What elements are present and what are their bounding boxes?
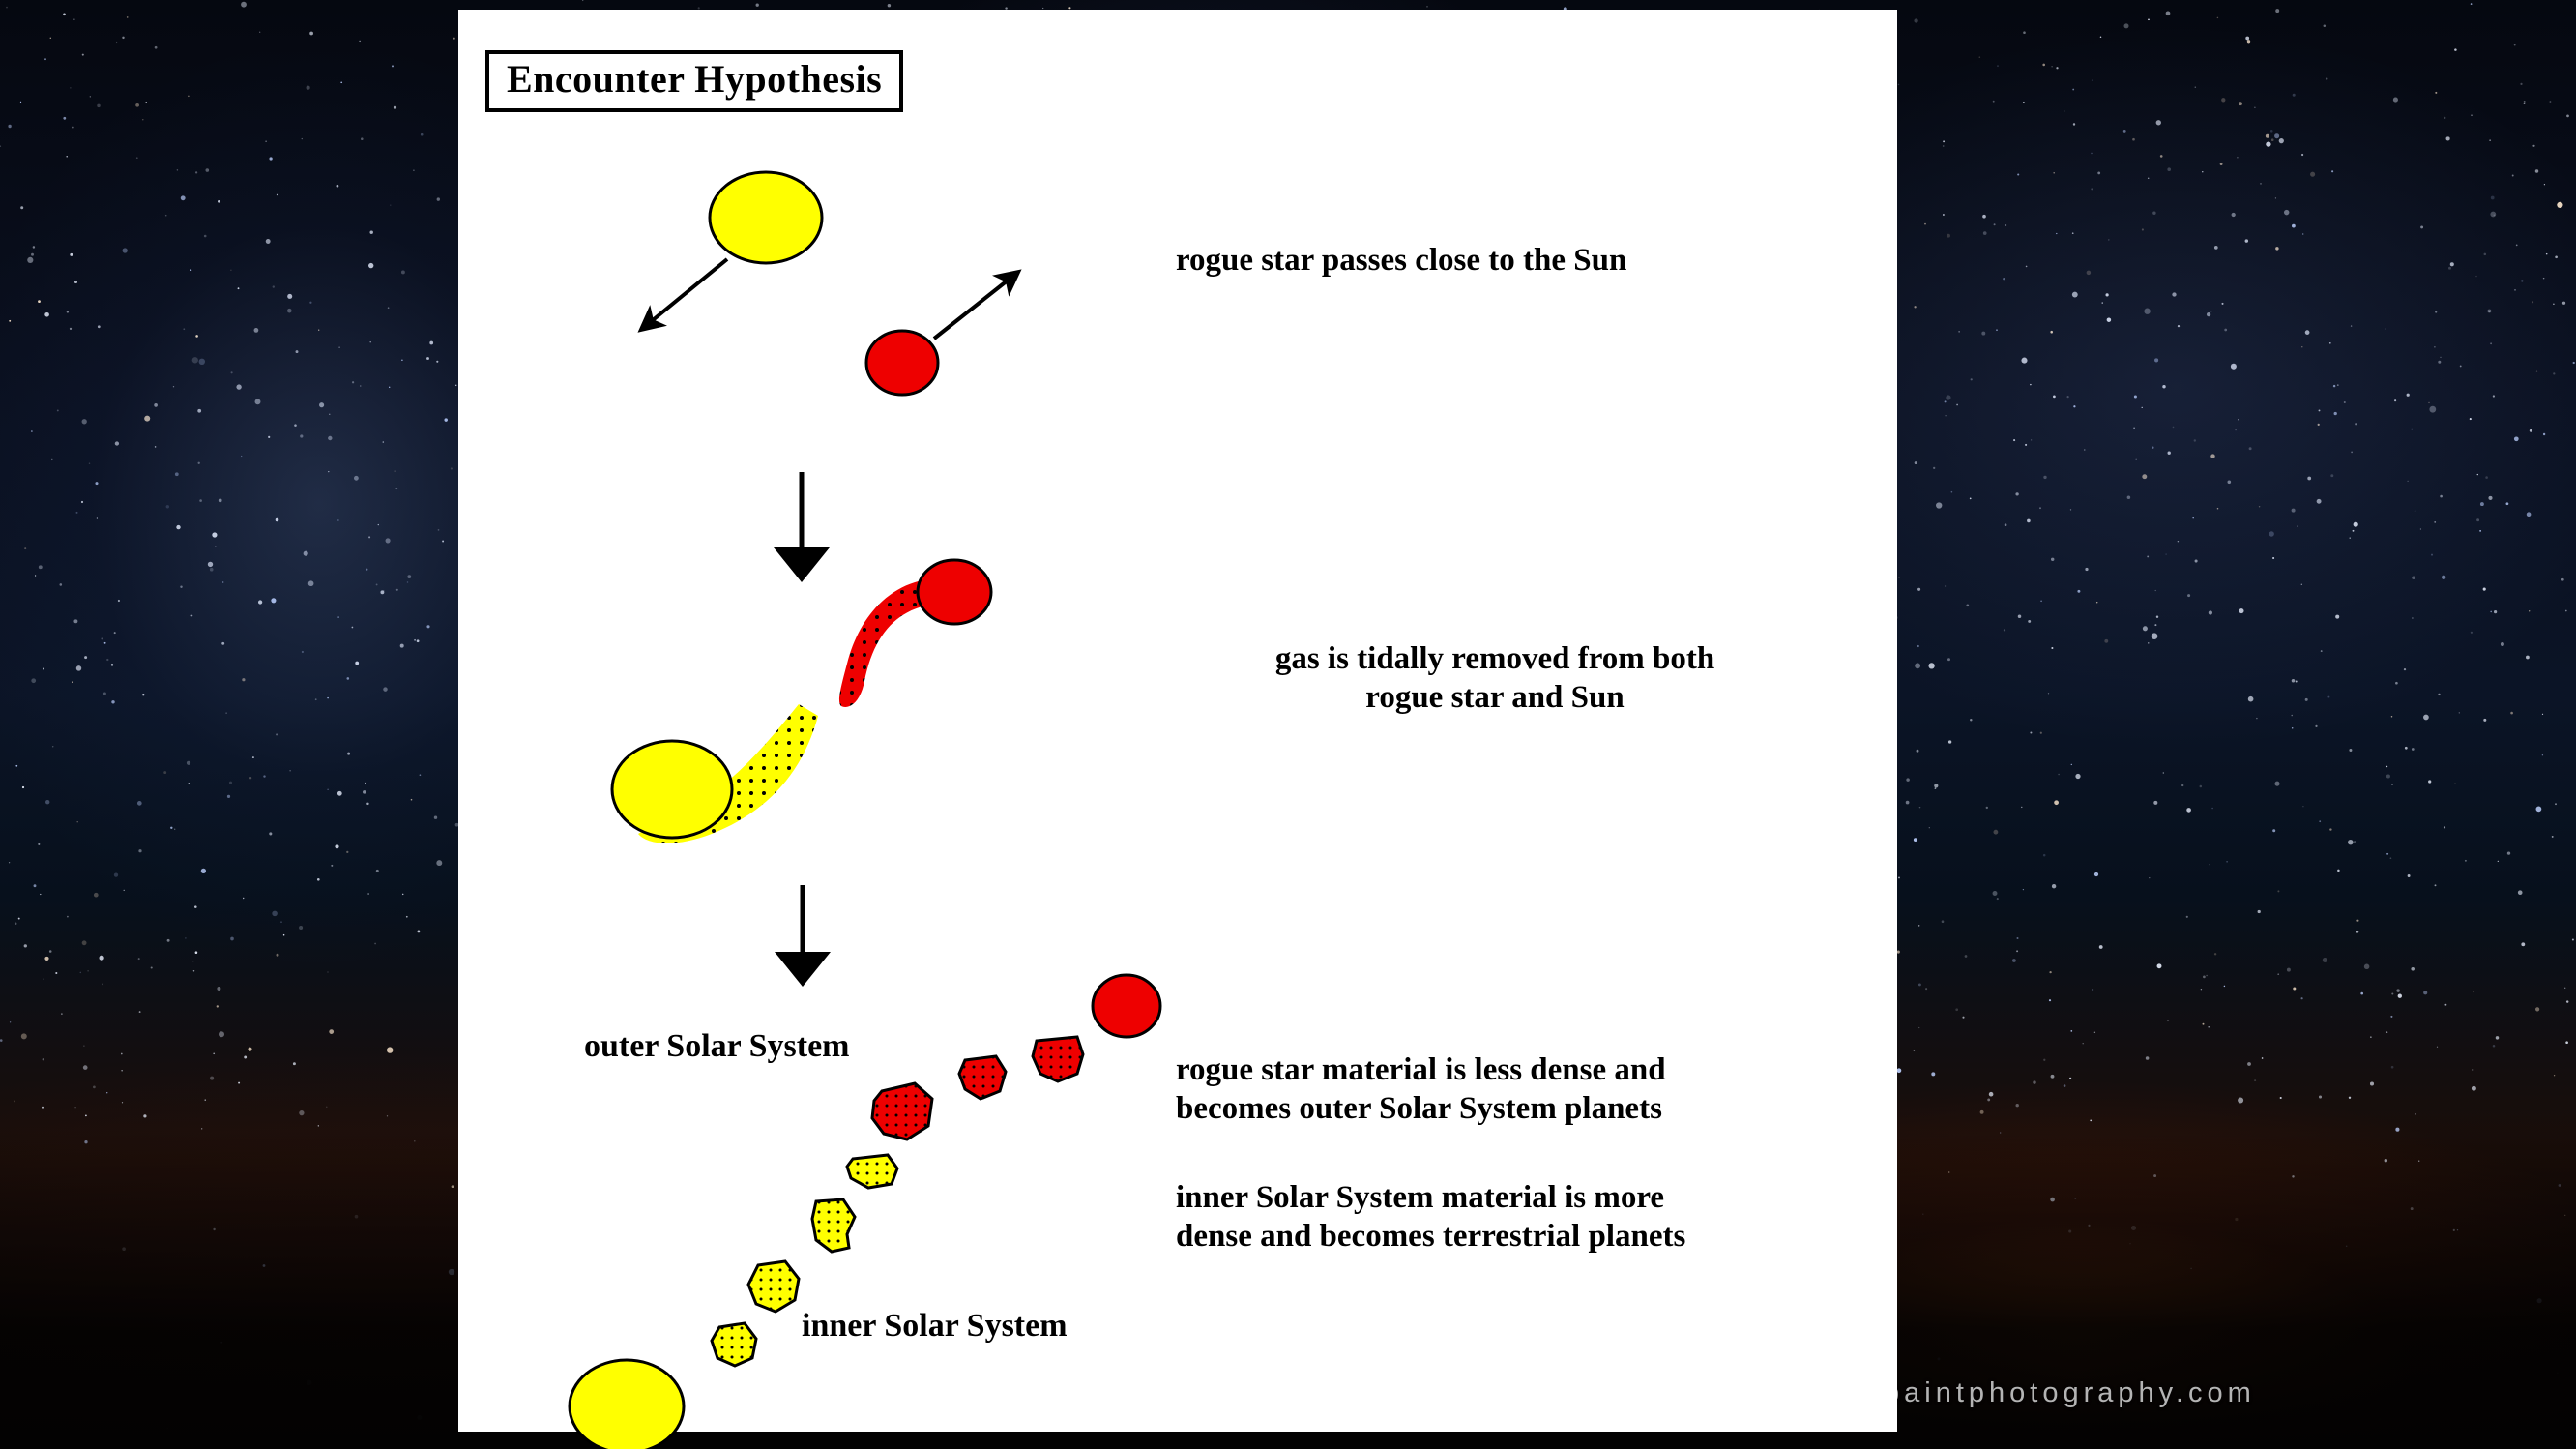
- photo-watermark: paintphotography.com: [1884, 1377, 2256, 1409]
- outer-planet: [959, 1056, 1006, 1099]
- panel-tidal-stripping: [612, 560, 991, 843]
- inner-planet: [748, 1261, 799, 1312]
- caption-step-4-line-1: inner Solar System material is more: [1176, 1177, 1664, 1219]
- outer-planet: [1033, 1037, 1083, 1081]
- panel-close-approach: [642, 172, 1017, 395]
- inner-planet: [712, 1323, 756, 1366]
- label-inner-solar-system: inner Solar System: [802, 1308, 1068, 1345]
- caption-step-4-line-2: dense and becomes terrestrial planets: [1176, 1216, 1685, 1257]
- label-outer-solar-system: outer Solar System: [584, 1028, 850, 1065]
- inner-planet: [847, 1155, 897, 1188]
- outer-planet: [872, 1083, 932, 1139]
- sun-body: [612, 741, 732, 838]
- sun-body: [570, 1360, 684, 1449]
- inner-planet: [812, 1199, 855, 1252]
- rogue-star-body: [918, 560, 991, 624]
- arrow-step1-to-step2: [774, 472, 830, 582]
- rogue-star-velocity-arrow: [934, 273, 1017, 339]
- caption-step-3-line-1: rogue star material is less dense and: [1176, 1050, 1666, 1091]
- caption-step-2-line-2: rogue star and Sun: [1176, 677, 1814, 719]
- sun-body: [710, 172, 822, 263]
- slide-panel: Encounter Hypothesis: [458, 10, 1897, 1432]
- arrow-step2-to-step3: [775, 885, 831, 987]
- caption-step-3-line-2: becomes outer Solar System planets: [1176, 1088, 1662, 1130]
- rogue-star-body: [866, 331, 938, 395]
- caption-step-1: rogue star passes close to the Sun: [1176, 240, 1626, 281]
- sun-velocity-arrow: [642, 259, 727, 329]
- rogue-star-body: [1093, 975, 1160, 1037]
- caption-step-2-line-1: gas is tidally removed from both: [1176, 638, 1814, 680]
